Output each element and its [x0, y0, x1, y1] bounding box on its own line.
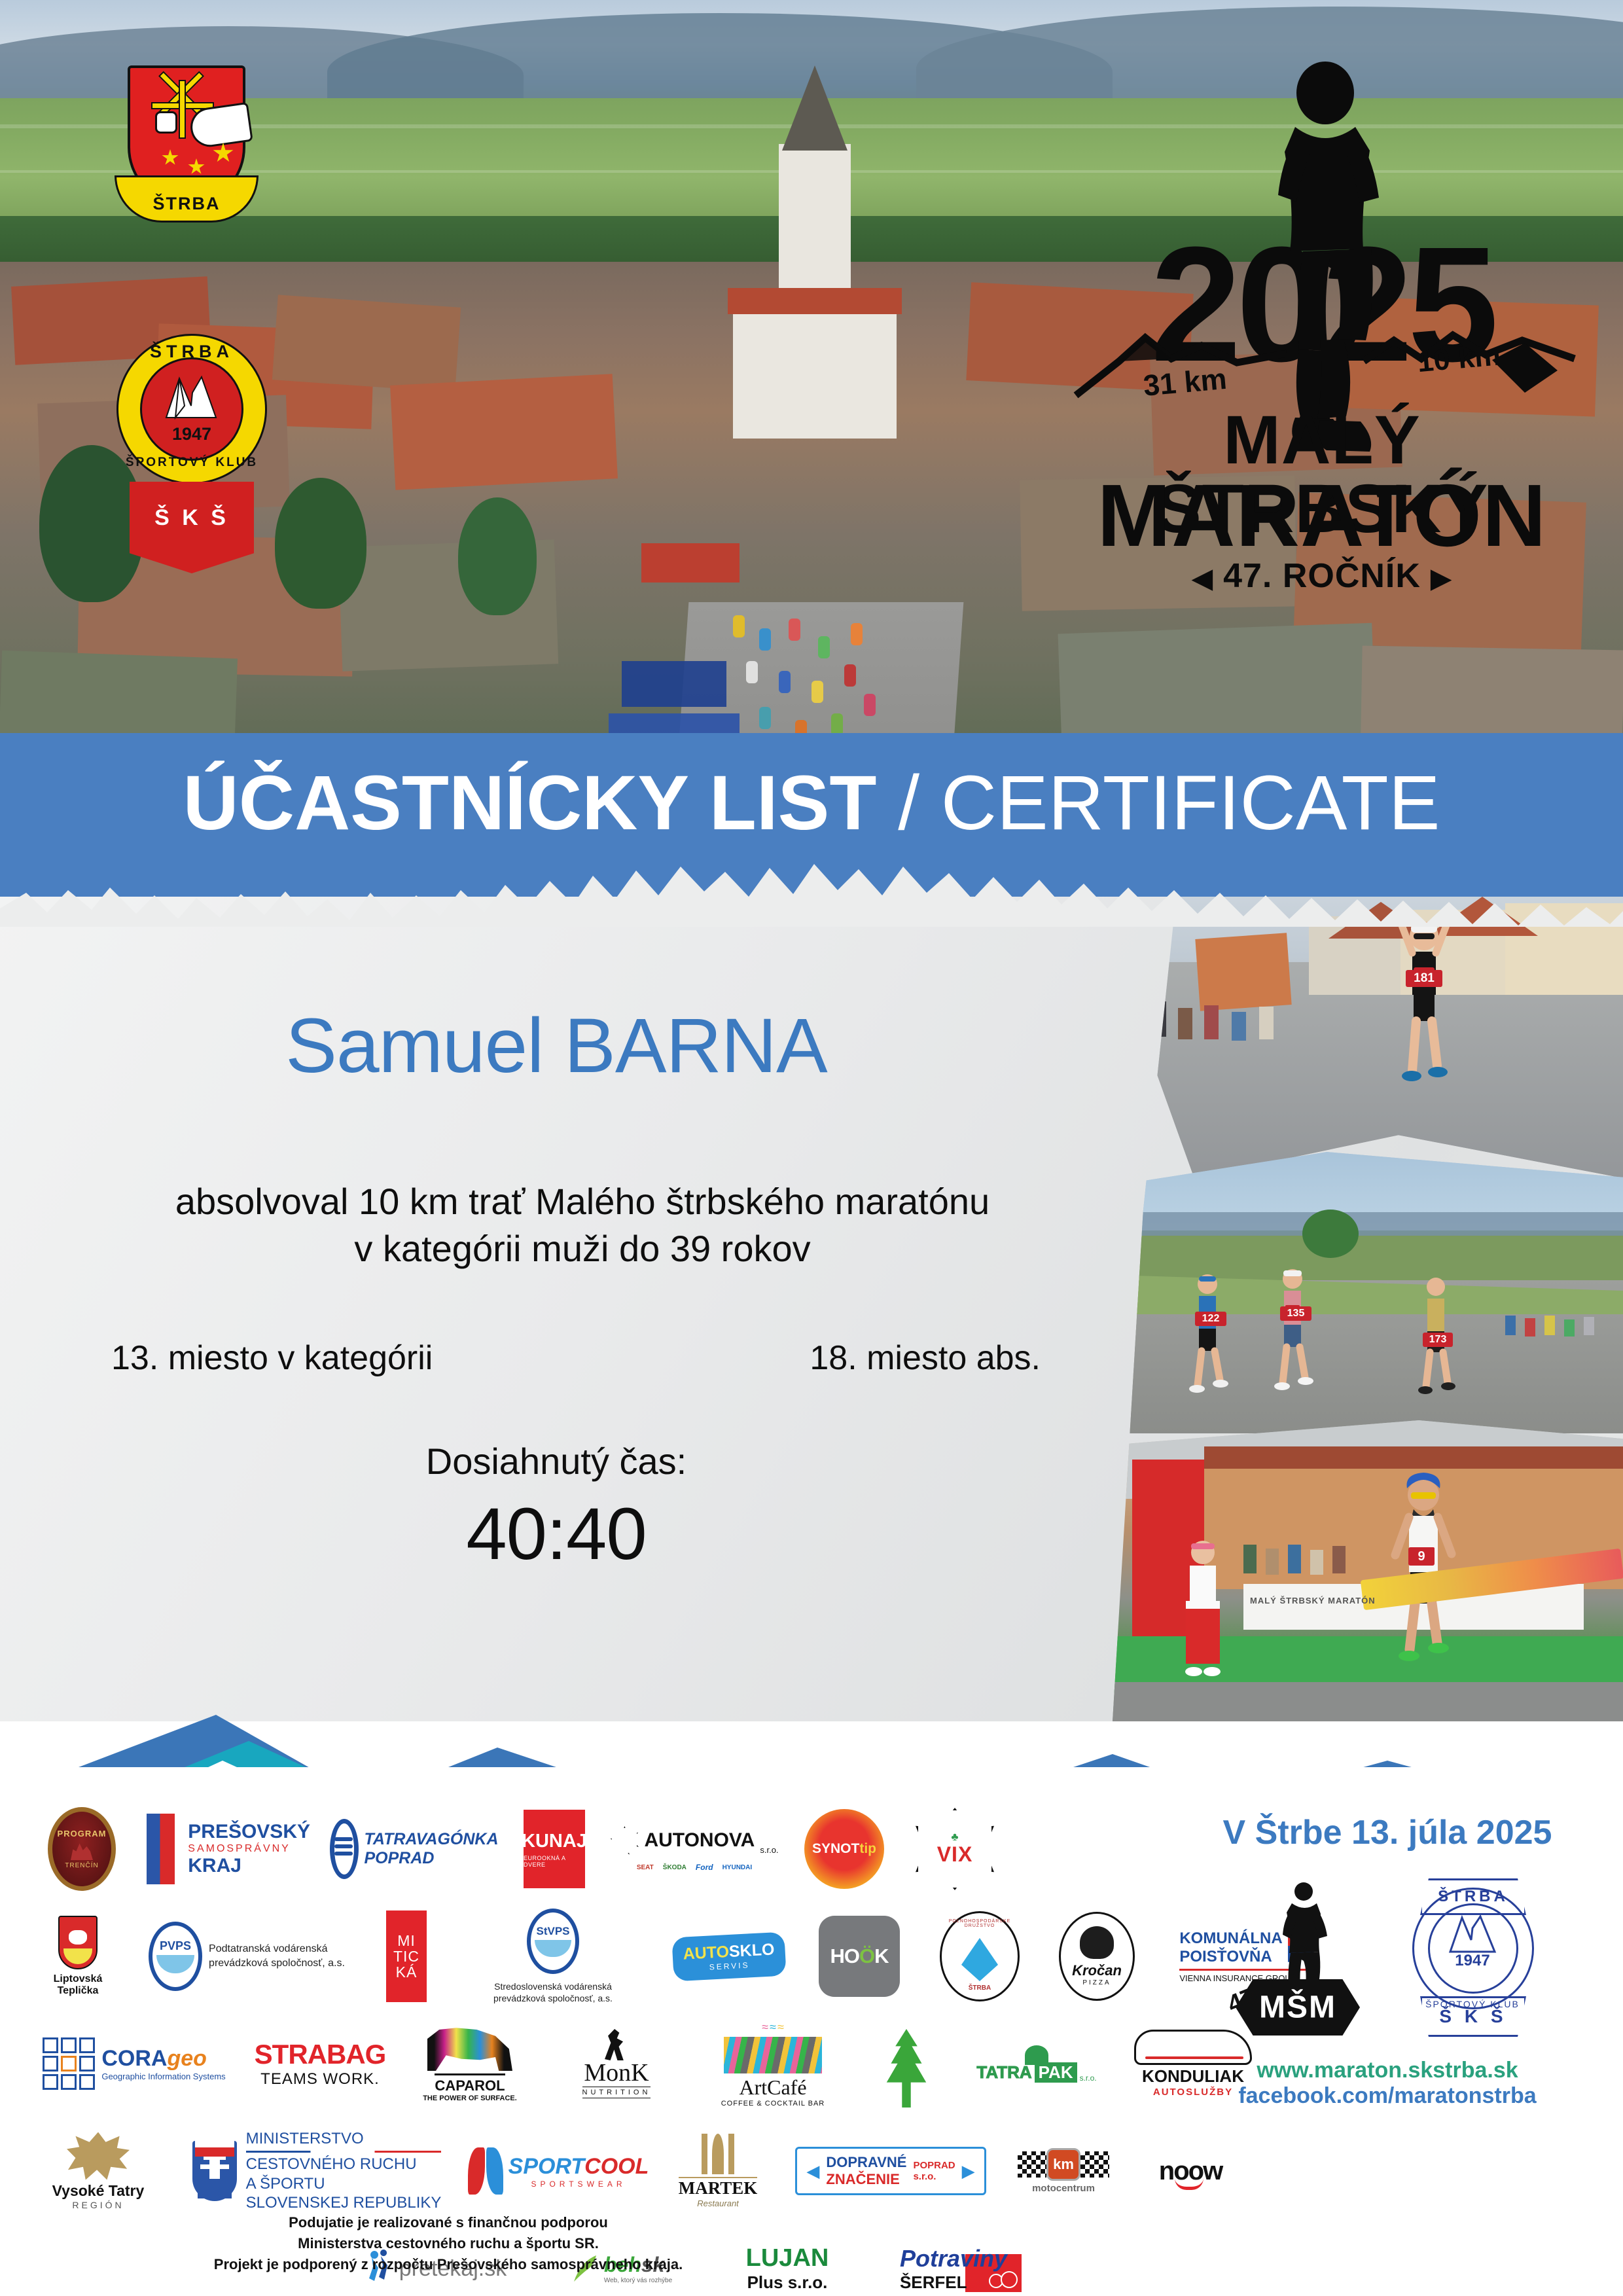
sponsor-miticka: MITICKÁ: [377, 1910, 436, 2002]
absolute-place: 18. miesto abs.: [810, 1338, 1041, 1378]
photo-runners-hill: 122 135: [1113, 1152, 1623, 1433]
website-url[interactable]: www.maraton.skstrba.sk: [1178, 2058, 1597, 2083]
sks-stamp-emblem: ŠTRBA 1947 ŠPORTOVÝ KLUB Š K Š: [1400, 1881, 1544, 2038]
title-secondary: CERTIFICATE: [941, 760, 1440, 846]
sponsor-vix: ♣ VIX: [912, 1803, 997, 1895]
sponsor-caparol: CAPAROL THE POWER OF SURFACE.: [411, 2018, 529, 2109]
title-band-torn-edge: [0, 861, 1623, 927]
description-line2: v kategórii muži do 39 rokov: [0, 1225, 1165, 1272]
description-line1: absolvoval 10 km trať Malého štrbského m…: [175, 1181, 990, 1222]
strba-coat-of-arms: ŠTRBA: [115, 65, 259, 242]
certificate-description: absolvoval 10 km trať Malého štrbského m…: [0, 1178, 1165, 1272]
sponsor-ministerstvo: MINISTERSTVO CESTOVNÉHO RUCHU A ŠPORTU S…: [179, 2125, 454, 2217]
event-edition: ◀ 47. ROČNÍK ▶: [1047, 556, 1597, 596]
hero-aerial-photo: ŠTART ŠTRBA: [0, 0, 1623, 753]
sponsor-tatravagonka-poprad: TATRAVAGÓNKA POPRAD: [332, 1803, 496, 1895]
title-separator: /: [876, 760, 940, 846]
sponsor-pvps: PVPS Podtatranská vodárenská prevádzková…: [139, 1910, 355, 2002]
runner-icon: [1271, 1881, 1334, 1996]
placement-row: 13. miesto v kategórii 18. miesto abs.: [0, 1338, 1152, 1378]
disclaimer-line3: Projekt je podporený z rozpočtu Prešovsk…: [62, 2254, 834, 2275]
sponsor-vysoke-tatry-region: Vysoké Tatry REGIÓN: [39, 2125, 157, 2217]
sponsor-row-2: Liptovská Teplička PVPS Podtatranská vod…: [39, 1907, 1165, 2005]
sponsor-synottip: SYNOTtip: [798, 1803, 890, 1895]
sponsor-potraviny-serfel: Potraviny ŠERFEL: [872, 2223, 1035, 2296]
sponsor-area: PROGRAM TRENČÍN PREŠOVSKÝ SAMOSPRÁVNY KR…: [0, 1767, 1623, 2296]
sponsor-martek-restaurant: MARTEK Restaurant: [662, 2125, 774, 2217]
club-bottom-text: ŠPORTOVÝ KLUB: [110, 456, 274, 470]
bib-number: 181: [1406, 970, 1442, 987]
sponsor-monk-nutrition: MonK NUTRITION: [551, 2018, 682, 2109]
sponsor-presovsky-kraj: PREŠOVSKÝ SAMOSPRÁVNY KRAJ: [147, 1803, 310, 1895]
club-abbrev: Š K Š: [130, 505, 254, 531]
time-value: 40:40: [0, 1492, 1113, 1576]
club-year: 1947: [110, 424, 274, 444]
sponsor-pd-strba: POĽNOHOSPODÁRSKE DRUŽSTVO ŠTRBA: [931, 1910, 1029, 2002]
facebook-url[interactable]: facebook.com/maratonstrba: [1178, 2083, 1597, 2109]
title-primary: ÚČASTNÍCKY LIST: [183, 760, 877, 846]
sponsor-stvps: StVPS Stredoslovenská vodárenská prevádz…: [458, 1910, 648, 2002]
msm-emblem: 47. MŠM: [1230, 1881, 1368, 2038]
sponsor-row-4: Vysoké Tatry REGIÓN MINISTERSTVO: [39, 2122, 1165, 2220]
page-title: ÚČASTNÍCKY LIST / CERTIFICATE: [0, 764, 1623, 842]
sponsor-noow: noow: [1141, 2125, 1240, 2217]
strba-sports-club-logo: ŠTRBA 1947 ŠPORTOVÝ KLUB Š K Š: [110, 327, 274, 583]
photo-collage: 181: [1113, 870, 1623, 1721]
sponsor-program-trencin: PROGRAM TRENČÍN: [39, 1803, 124, 1895]
certificate-page: ŠTART ŠTRBA: [0, 0, 1623, 2296]
sponsor-dopravne-znacenie-poprad: ◀ DOPRAVNÉ ZNAČENIE POPRAD s.r.o. ▶: [796, 2125, 986, 2217]
sponsor-km-motocentrum: km motocentrum: [1008, 2125, 1119, 2217]
distance-long: 31 km: [1142, 362, 1228, 403]
sponsor-row-1: PROGRAM TRENČÍN PREŠOVSKÝ SAMOSPRÁVNY KR…: [39, 1800, 1165, 1898]
sponsor-autonova: AUTONOVA s.r.o. SEAT ŠKODA Ford HYUNDAI: [613, 1803, 776, 1895]
event-date: V Štrbe 13. júla 2025: [1178, 1813, 1597, 1852]
result-time-block: Dosiahnutý čas: 40:40: [0, 1440, 1113, 1576]
sponsor-strabag: STRABAG TEAMS WORK.: [251, 2018, 389, 2109]
distance-short: 10 km: [1416, 338, 1502, 379]
sponsor-autosklo-servis: AUTOSKLO SERVIS: [670, 1910, 788, 2002]
disclaimer-line1: Podujatie je realizované s finančnou pod…: [62, 2212, 834, 2233]
stamp-bottom: Š K Š: [1420, 1996, 1526, 2037]
sponsor-liptovska-teplicka: Liptovská Teplička: [39, 1910, 116, 2002]
arrow-left-icon: ◀: [1192, 564, 1213, 593]
stamp-year: 1947: [1400, 1952, 1544, 1970]
event-name-line2: MARATÓN: [1047, 471, 1597, 560]
event-logo: 2025: [1047, 39, 1597, 589]
funding-disclaimer: Podujatie je realizované s finančnou pod…: [62, 2212, 834, 2275]
club-top-text: ŠTRBA: [110, 342, 274, 362]
brand-skoda: ŠKODA: [663, 1864, 687, 1871]
sponsor-sportcool: SPORTCOOL SPORTSWEAR: [476, 2125, 640, 2217]
category-place: 13. miesto v kategórii: [111, 1338, 433, 1378]
sponsor-tatrapak: TATRA PAK s.r.o.: [971, 2018, 1102, 2109]
footer-right-column: V Štrbe 13. júla 2025: [1178, 1793, 1597, 2109]
crest-label: ŠTRBA: [116, 194, 257, 214]
contact-urls: www.maraton.skstrba.sk facebook.com/mara…: [1178, 2058, 1597, 2109]
sponsor-ps-urbar-strba: PS URBÁR ŠTRBA: [864, 2018, 949, 2109]
sponsor-artcafe: ≈≈≈ ArtCafé COFFEE & COCKTAIL BAR: [704, 2018, 842, 2109]
arrow-right-icon: ▶: [1431, 564, 1452, 593]
msm-abbrev: MŠM: [1236, 1990, 1360, 2026]
sponsor-corageo: CORAgeo Geographic Information Systems: [39, 2018, 229, 2109]
sponsor-hook: HOÖK: [810, 1910, 908, 2002]
sponsor-kunaj: KUNAJ EUROOKNÁ A DVERE: [518, 1803, 590, 1895]
footer-emblems: 47. MŠM ŠTRBA 1947 ŠPORTOVÝ KLUB Š K Š: [1178, 1881, 1597, 2038]
participant-name-block: Samuel BARNA: [0, 1001, 1113, 1090]
sponsor-row-3: CORAgeo Geographic Information Systems S…: [39, 2015, 1165, 2113]
brand-seat: SEAT: [637, 1864, 654, 1871]
brand-hyundai: HYUNDAI: [722, 1864, 753, 1871]
brand-ford: Ford: [696, 1863, 713, 1872]
time-label: Dosiahnutý čas:: [0, 1440, 1113, 1482]
participant-name: Samuel BARNA: [0, 1001, 1113, 1090]
sponsor-krocan-pizza: Kročan PIZZA: [1051, 1910, 1143, 2002]
disclaimer-line2: Ministerstva cestovného ruchu a športu S…: [62, 2233, 834, 2254]
